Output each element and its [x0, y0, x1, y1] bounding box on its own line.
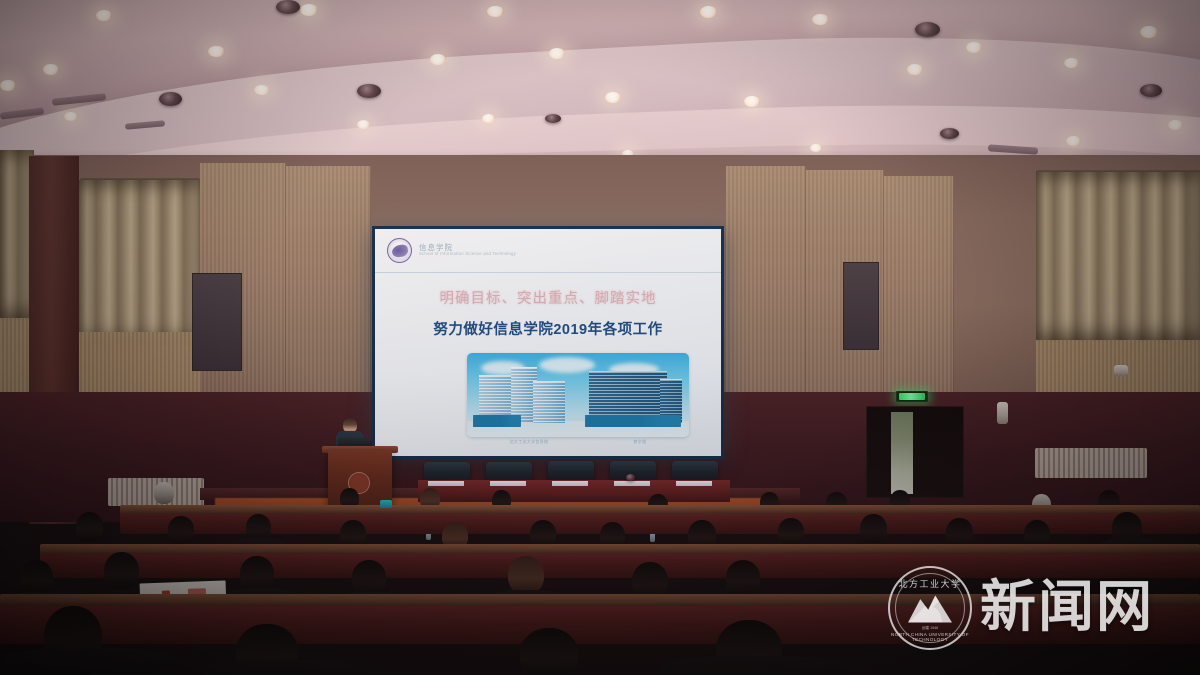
- exit-sign-icon: [896, 391, 928, 402]
- cloud-shape: [539, 357, 595, 373]
- audience-head: [246, 514, 271, 541]
- wood-panel-c: [726, 166, 806, 394]
- photo-caption-left: 北方工业大学信息楼: [510, 439, 549, 445]
- wood-panel-e: [884, 176, 954, 394]
- audience-head: [240, 556, 274, 592]
- exit-sign-glow: [899, 393, 925, 400]
- seal-year-text: 创建 1946: [890, 626, 970, 631]
- audience-head: [946, 518, 973, 547]
- ceiling-downlight-icon: [549, 48, 565, 59]
- slide-campus-photo: [467, 353, 689, 437]
- news-site-watermark: 北方工业大学 创建 1946 NORTH CHINA UNIVERSITY OF…: [888, 560, 1188, 655]
- ceiling-downlight-icon: [1064, 58, 1079, 68]
- presentation-slide: 信息学院 School of Information Science and T…: [375, 229, 721, 456]
- wall-acoustic-grille-left: [192, 273, 242, 371]
- ceiling-speaker-icon: [915, 22, 940, 37]
- ceiling-downlight-icon: [43, 64, 59, 75]
- slide-header-text: 信息学院 School of Information Science and T…: [419, 244, 516, 257]
- ceiling-downlight-icon: [1168, 120, 1183, 130]
- ceiling-downlight-icon: [700, 6, 717, 18]
- wall-speaker-right: [997, 402, 1008, 424]
- table-name-card: [490, 481, 526, 486]
- audience-head: [778, 518, 804, 546]
- ceiling-downlight-icon: [907, 64, 923, 75]
- projection-screen: 信息学院 School of Information Science and T…: [372, 226, 724, 459]
- ceiling-downlight-icon: [1140, 26, 1158, 38]
- ceiling-speaker-icon: [1140, 84, 1162, 97]
- ceiling-speaker-icon: [545, 114, 561, 123]
- photo-trees-right: [585, 415, 681, 427]
- audience-head-foreground: [520, 628, 578, 675]
- audience-head: [860, 514, 887, 543]
- seal-mountain-mark-icon: [908, 593, 952, 623]
- ceiling-downlight-icon: [430, 54, 446, 65]
- auditorium-photo: 信息学院 School of Information Science and T…: [0, 0, 1200, 675]
- audience-desk: [40, 544, 1200, 554]
- ceiling-downlight-icon: [300, 4, 318, 16]
- ceiling-downlight-icon: [744, 96, 760, 107]
- slide-header: 信息学院 School of Information Science and T…: [375, 229, 721, 273]
- radiator-right: [1035, 448, 1147, 478]
- table-name-card: [676, 481, 712, 486]
- curtain-left-b: [78, 180, 200, 345]
- audience-head: [154, 482, 174, 504]
- audience-head: [508, 556, 544, 594]
- seal-en-text: NORTH CHINA UNIVERSITY OF TECHNOLOGY: [890, 632, 970, 642]
- ceiling-speaker-icon: [159, 92, 182, 106]
- table-name-card: [428, 481, 464, 486]
- audience-shoulders-foreground: [0, 648, 180, 675]
- wall-outlet-right: [1114, 365, 1128, 376]
- audience-shoulders-foreground: [660, 656, 850, 675]
- audience-head: [168, 516, 194, 544]
- photo-trees-left: [473, 415, 521, 427]
- ceiling-downlight-icon: [254, 85, 270, 95]
- university-seal-icon: 北方工业大学 创建 1946 NORTH CHINA UNIVERSITY OF…: [888, 566, 972, 650]
- university-emblem-icon: [387, 238, 412, 263]
- campus-building-left-wing: [533, 381, 565, 423]
- photo-caption-right: 教学楼: [633, 439, 646, 445]
- curtain-right: [1036, 172, 1200, 342]
- slide-photo-captions: 北方工业大学信息楼 教学楼: [467, 439, 689, 445]
- ceiling-speaker-icon: [940, 128, 959, 139]
- seal-cn-text: 北方工业大学: [890, 577, 970, 590]
- table-microphone-icon: [626, 474, 635, 481]
- ceiling-downlight-icon: [966, 42, 982, 53]
- audience-head: [20, 560, 53, 595]
- audience-head: [104, 552, 139, 589]
- ceiling-downlight-icon: [64, 112, 78, 121]
- slide-title-line2: 努力做好信息学院2019年各项工作: [375, 318, 721, 339]
- ceiling-downlight-icon: [208, 46, 225, 57]
- ceiling-speaker-icon: [276, 0, 300, 14]
- slide-title-line1: 明确目标、突出重点、脚踏实地: [375, 287, 721, 308]
- audience-head: [726, 560, 760, 596]
- table-name-card: [552, 481, 588, 486]
- ceiling-downlight-icon: [0, 80, 16, 91]
- stage-chair: [672, 461, 718, 481]
- watermark-label: 新闻网: [980, 580, 1154, 636]
- audience-head: [352, 560, 386, 596]
- ceiling-downlight-icon: [487, 6, 504, 17]
- exit-door[interactable]: [866, 406, 964, 498]
- stage-chair: [548, 461, 594, 481]
- slide-org-en: School of Information Science and Techno…: [419, 252, 516, 257]
- wood-panel-b: [286, 166, 371, 394]
- table-name-card: [614, 481, 650, 486]
- ceiling-speaker-icon: [357, 84, 381, 98]
- stage-chair: [486, 462, 532, 482]
- ceiling-downlight-icon: [482, 114, 495, 123]
- audience-phone-icon: [380, 500, 392, 508]
- audience-head: [76, 512, 103, 541]
- wall-acoustic-grille-right: [843, 262, 879, 350]
- audience-shoulders-foreground: [196, 660, 366, 675]
- ceiling-downlight-icon: [357, 120, 370, 129]
- exit-door-daylight-gap: [891, 412, 913, 494]
- ceiling-downlight-icon: [605, 92, 621, 103]
- stage-chair: [424, 462, 470, 482]
- audience-desk: [120, 505, 1200, 514]
- ceiling-downlight-icon: [1066, 136, 1081, 146]
- ceiling-downlight-icon: [96, 10, 112, 21]
- ceiling-downlight-icon: [812, 14, 829, 25]
